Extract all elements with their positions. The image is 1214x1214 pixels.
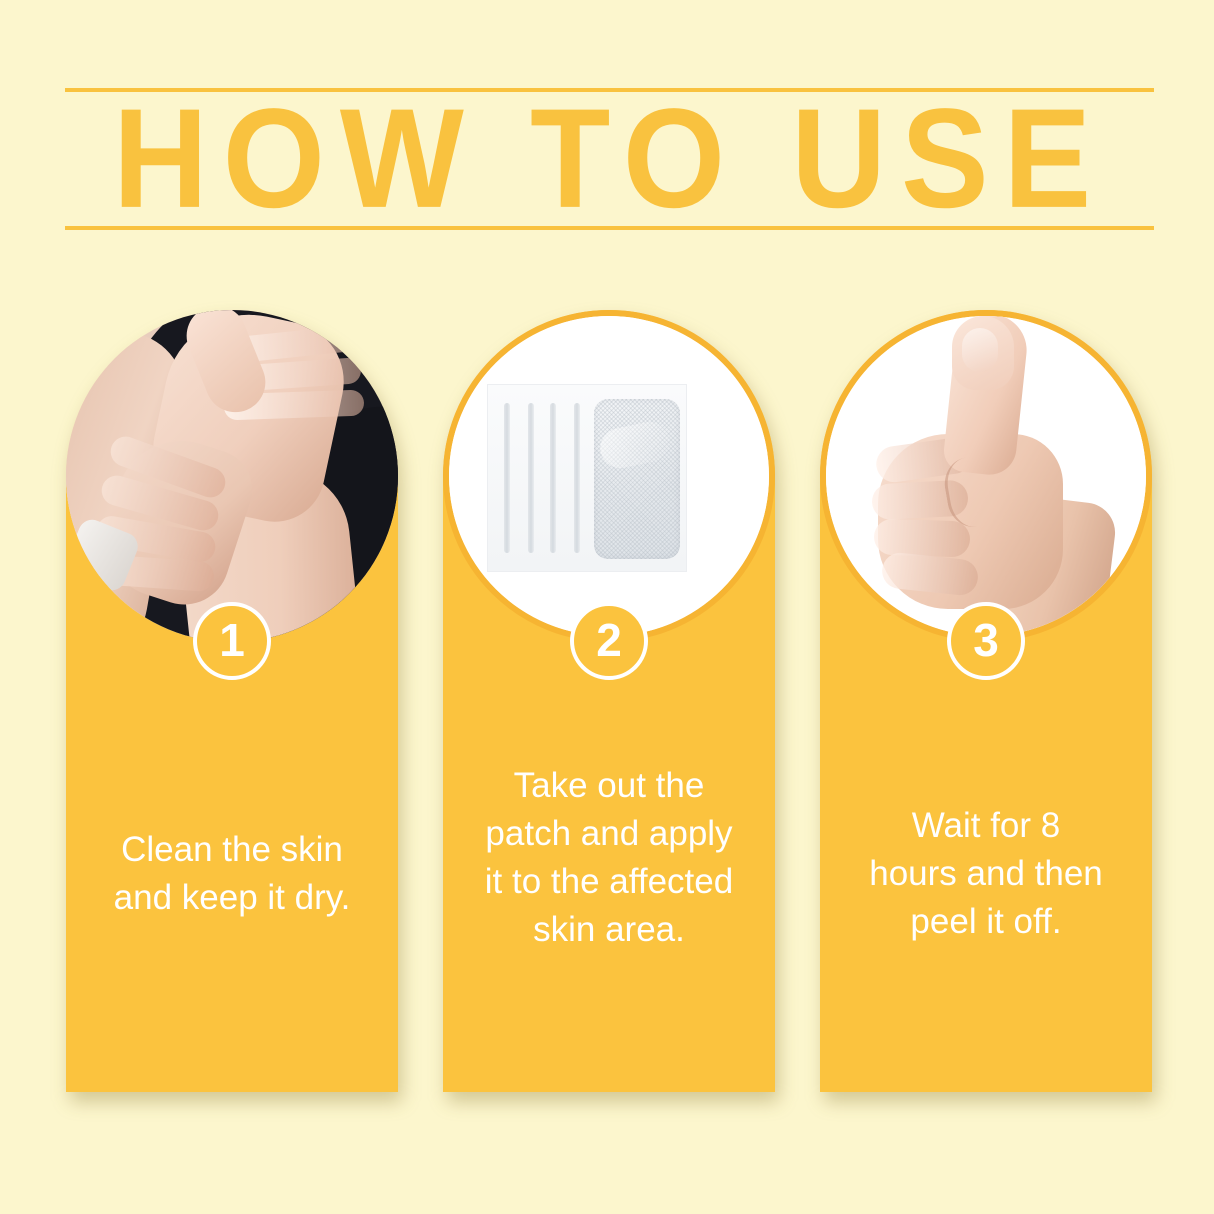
patch-fold-line — [574, 403, 580, 553]
patch-sheet-shape — [487, 384, 687, 572]
step-card-3: Wait for 8 hours and then peel it off. 3 — [820, 310, 1152, 1092]
knuckle-shape — [873, 518, 970, 557]
wrist-pain-illustration — [66, 310, 398, 642]
step-card-1: Clean the skin and keep it dry. — [66, 310, 398, 1092]
step-number-badge: 3 — [947, 602, 1025, 680]
step-card-2: Take out the patch and apply it to the a… — [443, 310, 775, 1092]
wrist-pain-photo — [66, 310, 398, 642]
patch-fold-line — [528, 403, 534, 553]
thumbs-up-illustration — [826, 316, 1146, 636]
how-to-use-infographic: HOW TO USE Clean the skin and keep it dr… — [0, 0, 1214, 1214]
patch-product-photo — [443, 310, 775, 642]
step-caption: Clean the skin and keep it dry. — [80, 826, 384, 922]
step-caption: Wait for 8 hours and then peel it off. — [834, 802, 1138, 946]
patch-product-illustration — [449, 316, 769, 636]
patch-fold-line — [550, 403, 556, 553]
step-number-badge: 1 — [193, 602, 271, 680]
patch-fold-line — [504, 403, 510, 553]
steps-container: Clean the skin and keep it dry. — [0, 0, 1214, 1214]
thumb-nail-shape — [962, 328, 998, 372]
step-number-badge: 2 — [570, 602, 648, 680]
step-caption: Take out the patch and apply it to the a… — [457, 762, 761, 954]
thumbs-up-photo — [820, 310, 1152, 642]
